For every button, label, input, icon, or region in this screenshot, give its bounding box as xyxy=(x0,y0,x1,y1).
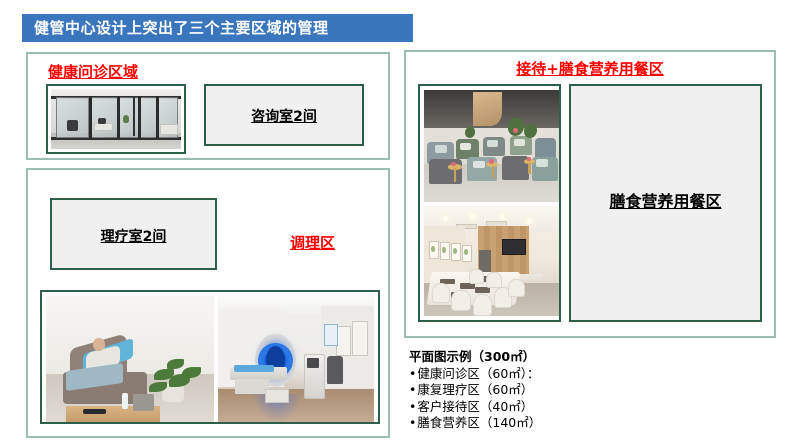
physiotherapy-mri-room-photo xyxy=(218,296,374,422)
slide-title-bar: 健管中心设计上突出了三个主要区域的管理 xyxy=(22,14,413,42)
conditioning-area-heading: 调理区 xyxy=(290,232,335,253)
dining-photo-column-frame xyxy=(418,84,561,322)
page-title: 健管中心设计上突出了三个主要区域的管理 xyxy=(34,21,329,36)
consultation-room-count-label: 咨询室2间 xyxy=(206,106,362,126)
dining-area-label: 膳食营养用餐区 xyxy=(571,188,760,212)
consultation-room-count-box: 咨询室2间 xyxy=(204,84,364,146)
therapy-photo-strip-frame xyxy=(40,290,380,424)
consultation-area-panel: 健康问诊区域 咨询室2间 xyxy=(26,52,390,160)
dining-area-label-box: 膳食营养用餐区 xyxy=(569,84,762,322)
therapy-room-count-box: 理疗室2间 xyxy=(50,198,217,270)
consultation-room-photo-frame xyxy=(46,84,186,154)
dining-reception-heading: 接待+膳食营养用餐区 xyxy=(516,58,664,79)
plan-legend-item: 客户接待区（40㎡） xyxy=(409,399,669,416)
consultation-area-heading: 健康问诊区域 xyxy=(48,61,138,82)
therapy-area-panel: 理疗室2间 调理区 xyxy=(26,168,390,438)
plan-legend-item: 健康问诊区（60㎡）： xyxy=(409,366,669,383)
relaxation-recliner-photo xyxy=(46,296,214,422)
dining-reception-area-panel: 接待+膳食营养用餐区 xyxy=(404,50,776,338)
plan-legend-item: 膳食营养区（140㎡） xyxy=(409,415,669,432)
glass-partition-consultation-room-photo xyxy=(51,89,181,149)
plan-legend-item: 康复理疗区（60㎡） xyxy=(409,382,669,399)
reception-lounge-photo xyxy=(424,90,559,202)
plan-legend: 平面图示例（300㎡） 健康问诊区（60㎡）： 康复理疗区（60㎡） 客户接待区… xyxy=(409,349,669,432)
plan-legend-title: 平面图示例（300㎡） xyxy=(409,349,669,366)
nutrition-dining-room-photo xyxy=(424,206,559,316)
therapy-room-count-label: 理疗室2间 xyxy=(52,226,215,246)
